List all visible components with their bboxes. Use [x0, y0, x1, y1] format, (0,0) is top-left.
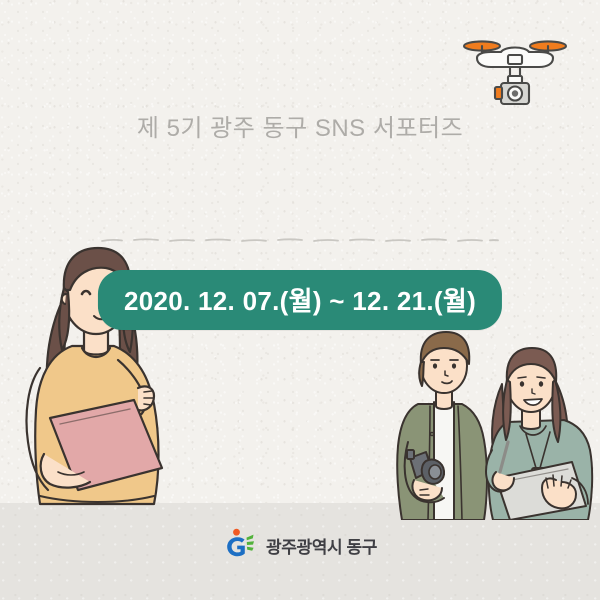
poster-canvas: 제 5기 광주 동구 SNS 서포터즈	[0, 0, 600, 600]
poster-subtitle: 제 5기 광주 동구 SNS 서포터즈	[0, 108, 600, 143]
city-logo-text: 광주광역시 동구	[266, 533, 377, 558]
recruitment-period-banner: 2020. 12. 07.(월) ~ 12. 21.(월)	[98, 270, 502, 330]
city-logo: 광주광역시 동구	[223, 528, 377, 563]
poster-title	[0, 152, 600, 230]
characters-man-and-woman	[396, 330, 600, 520]
gwangju-g-mark-icon	[223, 528, 257, 563]
drone-icon	[455, 18, 575, 113]
